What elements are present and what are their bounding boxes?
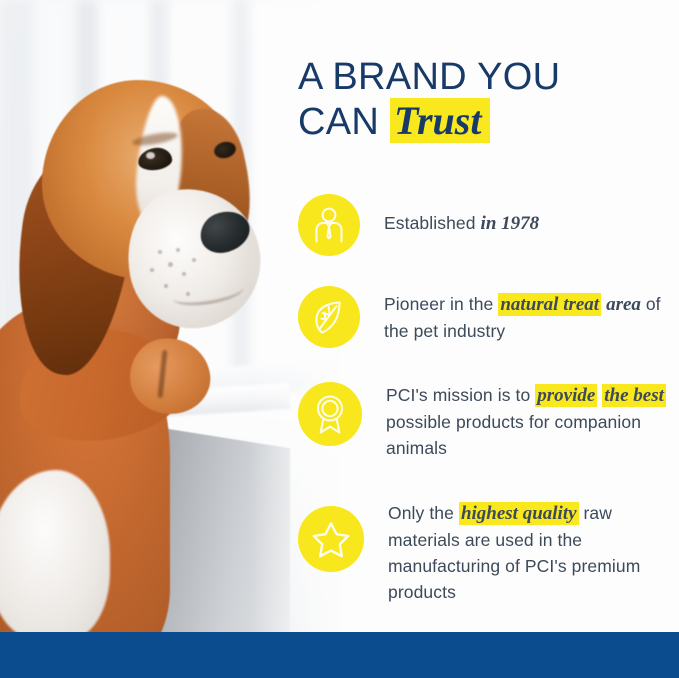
feature-item-established: Established in 1978 bbox=[296, 190, 679, 282]
muzzle-speck bbox=[168, 262, 173, 267]
muzzle-speck bbox=[158, 250, 162, 254]
headline-line-1: A BRAND YOU bbox=[298, 56, 560, 98]
dog-chest-marking bbox=[0, 470, 110, 632]
feature-text-mission: PCI's mission is to provide the best pos… bbox=[362, 376, 679, 461]
bottom-brand-bar bbox=[0, 632, 679, 678]
muzzle-speck bbox=[176, 248, 180, 252]
feature-2-emphasis: area bbox=[606, 294, 641, 315]
feature-text-quality: Only the highest quality raw materials a… bbox=[364, 486, 679, 605]
dog-eye-highlight bbox=[146, 152, 155, 159]
headline-script-word: Trust bbox=[390, 98, 490, 143]
feature-item-mission: PCI's mission is to provide the best pos… bbox=[296, 376, 679, 486]
award-ribbon-icon bbox=[298, 382, 362, 446]
feature-4-plain-a: Only the bbox=[388, 503, 459, 523]
businessperson-icon bbox=[298, 194, 360, 256]
feature-2-highlight: natural treat bbox=[498, 293, 601, 316]
muzzle-speck bbox=[182, 272, 186, 276]
feature-3-highlight-b: the best bbox=[602, 384, 666, 407]
muzzle-speck bbox=[186, 292, 190, 296]
feature-item-pioneer: Pioneer in the natural treat area of the… bbox=[296, 282, 679, 376]
muzzle-speck bbox=[192, 258, 196, 262]
leaf-icon bbox=[298, 286, 360, 348]
feature-3-plain-b: possible products for companion animals bbox=[386, 412, 641, 458]
feature-4-highlight: highest quality bbox=[459, 502, 579, 525]
feature-list: Established in 1978 Pioneer in the natur… bbox=[296, 190, 679, 606]
feature-3-highlight-a: provide bbox=[535, 384, 597, 407]
headline-line-2: CAN Trust bbox=[298, 99, 668, 144]
star-icon bbox=[298, 506, 364, 572]
feature-2-plain-a: Pioneer in the bbox=[384, 294, 498, 314]
feature-1-plain: Established bbox=[384, 213, 481, 233]
feature-1-emphasis: in 1978 bbox=[481, 213, 540, 234]
muzzle-speck bbox=[150, 268, 154, 272]
headline-line-2-prefix: CAN bbox=[298, 101, 390, 143]
promo-graphic: A BRAND YOU CAN Trust Established in 197… bbox=[0, 0, 679, 678]
feature-text-established: Established in 1978 bbox=[360, 190, 679, 237]
content-column: A BRAND YOU CAN Trust Established in 197… bbox=[296, 0, 679, 632]
muzzle-speck bbox=[164, 284, 168, 288]
dog-photo bbox=[0, 0, 340, 632]
feature-3-plain-a: PCI's mission is to bbox=[386, 385, 535, 405]
feature-item-quality: Only the highest quality raw materials a… bbox=[296, 486, 679, 606]
beagle-dog bbox=[0, 0, 340, 632]
page-title: A BRAND YOU CAN Trust bbox=[298, 56, 668, 144]
feature-text-pioneer: Pioneer in the natural treat area of the… bbox=[360, 282, 679, 344]
